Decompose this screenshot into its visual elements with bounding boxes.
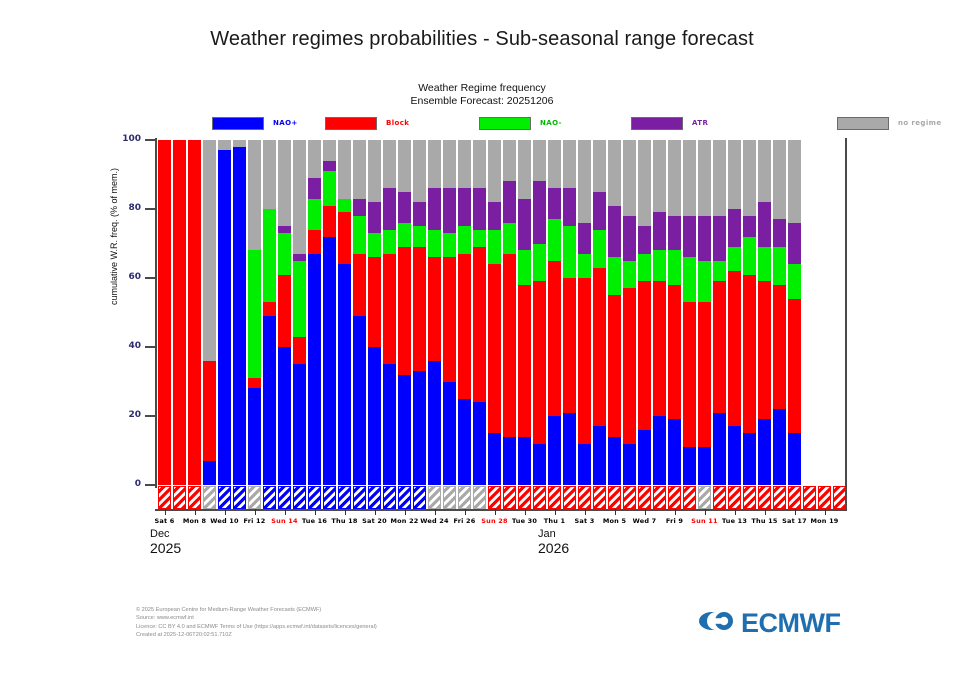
month-block-dec: Dec 2025: [150, 528, 181, 556]
bar-segment-atr: [443, 188, 456, 233]
bar-segment-block: [383, 254, 396, 364]
plot-wrapper: 020406080100 cumulative W.R. freq. (% of…: [0, 0, 964, 678]
bar-segment-nao: [458, 226, 471, 254]
dominant-regime-cell: [533, 486, 546, 509]
bar-segment-noregime: [368, 140, 381, 202]
bar-segment-nao: [308, 254, 321, 485]
bar-segment-block: [278, 275, 291, 347]
bar-segment-atr: [608, 206, 621, 258]
x-axis-tick-label: Fri 26: [454, 517, 476, 525]
bar-segment-nao: [548, 219, 561, 260]
bar-stack: [833, 140, 846, 485]
x-axis-tick-label: Sat 20: [362, 517, 387, 525]
bar-segment-nao: [608, 257, 621, 295]
bar-stack: [698, 140, 711, 485]
dominant-regime-cell: [668, 486, 681, 509]
bar-segment-noregime: [413, 140, 426, 202]
bar-segment-nao: [788, 433, 801, 485]
bar-segment-block: [713, 281, 726, 412]
bar-segment-nao: [683, 257, 696, 302]
bar-segment-nao: [758, 419, 771, 485]
bar-segment-block: [743, 275, 756, 434]
bar-segment-block: [683, 302, 696, 447]
bar-segment-atr: [713, 216, 726, 261]
dominant-regime-cell: [758, 486, 771, 509]
bar-segment-nao: [323, 171, 336, 206]
bar-segment-atr: [428, 188, 441, 229]
bar-segment-block: [533, 281, 546, 443]
x-axis-tick-mark: [555, 509, 556, 515]
bar-segment-nao: [263, 316, 276, 485]
month-year: 2025: [150, 540, 181, 556]
month-block-jan: Jan 2026: [538, 528, 569, 556]
x-axis-tick-mark: [285, 509, 286, 515]
bar-segment-noregime: [383, 140, 396, 188]
bar-segment-noregime: [668, 140, 681, 216]
bar-segment-atr: [653, 212, 666, 250]
x-axis-tick-label: Tue 16: [302, 517, 327, 525]
bar-segment-atr: [368, 202, 381, 233]
bar-stack: [458, 140, 471, 485]
bar-segment-block: [638, 281, 651, 429]
bar-segment-nao: [248, 388, 261, 485]
ecmwf-logo: ECMWF: [697, 606, 837, 640]
bar-stack: [788, 140, 801, 485]
bar-segment-nao: [743, 237, 756, 275]
bar-segment-nao: [428, 230, 441, 258]
bar-segment-nao: [773, 409, 786, 485]
bar-segment-nao: [503, 437, 516, 485]
bar-segment-block: [338, 212, 351, 264]
x-axis-tick-label: Mon 8: [183, 517, 206, 525]
bar-segment-block: [503, 254, 516, 437]
bar-stack: [263, 140, 276, 485]
bar-stack: [338, 140, 351, 485]
bar-segment-block: [788, 299, 801, 434]
bar-segment-nao: [488, 433, 501, 485]
bar-segment-nao: [758, 247, 771, 282]
bar-stack: [233, 140, 246, 485]
bar-stack: [773, 140, 786, 485]
bar-segment-atr: [398, 192, 411, 223]
dominant-regime-cell: [278, 486, 291, 509]
bar-segment-nao: [368, 347, 381, 485]
bar-stack: [248, 140, 261, 485]
bar-segment-noregime: [203, 140, 216, 361]
chart-page: Weather regimes probabilities - Sub-seas…: [0, 0, 964, 678]
bar-segment-nao: [578, 254, 591, 278]
bar-segment-nao: [383, 364, 396, 485]
bar-stack: [548, 140, 561, 485]
x-axis-tick-mark: [225, 509, 226, 515]
x-axis-tick-mark: [705, 509, 706, 515]
bar-segment-noregime: [443, 140, 456, 188]
bar-segment-atr: [413, 202, 426, 226]
bar-segment-block: [563, 278, 576, 413]
bar-segment-block: [173, 140, 186, 485]
bar-segment-noregime: [398, 140, 411, 192]
dominant-regime-cell: [293, 486, 306, 509]
dominant-regime-cell: [488, 486, 501, 509]
bar-segment-block: [203, 361, 216, 461]
x-axis-tick-mark: [315, 509, 316, 515]
bar-segment-noregime: [503, 140, 516, 181]
bar-segment-noregime: [338, 140, 351, 199]
bar-segment-atr: [323, 161, 336, 171]
bar-segment-atr: [503, 181, 516, 222]
bar-segment-nao: [308, 199, 321, 230]
bar-stack: [158, 140, 171, 485]
x-axis-tick-label: Thu 15: [751, 517, 777, 525]
bar-segment-noregime: [728, 140, 741, 209]
bar-segment-block: [443, 257, 456, 381]
x-axis-tick-mark: [405, 509, 406, 515]
bar-segment-noregime: [698, 140, 711, 216]
bar-segment-noregime: [608, 140, 621, 206]
bar-stack: [743, 140, 756, 485]
bar-segment-atr: [773, 219, 786, 247]
dominant-regime-cell: [698, 486, 711, 509]
bar-segment-noregime: [548, 140, 561, 188]
bar-segment-block: [608, 295, 621, 436]
bar-segment-noregime: [428, 140, 441, 188]
bar-segment-nao: [668, 250, 681, 285]
bar-segment-atr: [578, 223, 591, 254]
dominant-regime-cell: [773, 486, 786, 509]
dominant-regime-cell: [578, 486, 591, 509]
bar-segment-atr: [533, 181, 546, 243]
dominant-regime-cell: [548, 486, 561, 509]
bar-stack: [173, 140, 186, 485]
bar-segment-block: [458, 254, 471, 399]
bar-stack: [683, 140, 696, 485]
bar-segment-block: [263, 302, 276, 316]
bar-segment-atr: [563, 188, 576, 226]
bar-segment-nao: [503, 223, 516, 254]
bar-stack: [428, 140, 441, 485]
bar-segment-noregime: [248, 140, 261, 250]
y-axis-tick-label: 100: [107, 134, 141, 144]
bar-stack: [353, 140, 366, 485]
bar-segment-nao: [338, 199, 351, 213]
x-axis-tick-label: Thu 18: [331, 517, 357, 525]
x-axis-tick-mark: [345, 509, 346, 515]
bar-segment-atr: [698, 216, 711, 261]
bar-segment-nao: [578, 444, 591, 485]
bar-segment-nao: [293, 364, 306, 485]
x-axis-tick-label: Wed 24: [420, 517, 449, 525]
bar-segment-nao: [473, 230, 486, 247]
bar-segment-noregime: [263, 140, 276, 209]
bar-segment-nao: [593, 230, 606, 268]
dominant-regime-strip: [157, 486, 847, 509]
bar-stack: [638, 140, 651, 485]
footer-copyright: © 2025 European Centre for Medium-Range …: [136, 606, 377, 614]
bar-stack: [608, 140, 621, 485]
bar-stack: [383, 140, 396, 485]
bar-segment-noregime: [593, 140, 606, 192]
bar-segment-noregime: [683, 140, 696, 216]
bar-stack: [443, 140, 456, 485]
y-axis-tick-mark: [145, 277, 157, 279]
bar-stack: [368, 140, 381, 485]
dominant-regime-cell: [743, 486, 756, 509]
bar-segment-atr: [728, 209, 741, 247]
y-axis-tick-label: 40: [107, 341, 141, 351]
x-axis-tick-label: Mon 19: [810, 517, 838, 525]
footer-licence: Licence: CC BY 4.0 and ECMWF Terms of Us…: [136, 623, 377, 631]
dominant-regime-cell: [593, 486, 606, 509]
bar-segment-noregime: [233, 140, 246, 147]
x-axis-tick-mark: [435, 509, 436, 515]
bar-stack: [188, 140, 201, 485]
dominant-regime-cell: [458, 486, 471, 509]
bar-stack: [563, 140, 576, 485]
dominant-regime-cell: [383, 486, 396, 509]
bar-segment-nao: [683, 447, 696, 485]
x-axis-tick-label: Tue 30: [512, 517, 537, 525]
bar-segment-nao: [518, 250, 531, 285]
bar-stack: [323, 140, 336, 485]
x-axis-tick-label: Fri 12: [244, 517, 266, 525]
bar-segment-noregime: [278, 140, 291, 226]
bar-segment-nao: [293, 261, 306, 337]
bar-segment-atr: [743, 216, 756, 237]
bar-segment-atr: [518, 199, 531, 251]
bar-segment-block: [188, 140, 201, 485]
bar-segment-block: [368, 257, 381, 347]
bar-segment-nao: [353, 316, 366, 485]
x-axis-tick-mark: [525, 509, 526, 515]
x-axis-tick-label: Sun 28: [481, 517, 507, 525]
bar-segment-block: [488, 264, 501, 433]
bar-segment-block: [593, 268, 606, 427]
bar-segment-atr: [638, 226, 651, 254]
bar-stack: [518, 140, 531, 485]
y-axis-tick-mark: [145, 484, 157, 486]
x-axis-tick-mark: [585, 509, 586, 515]
y-axis-title: cumulative W.R. freq. (% of mem.): [109, 168, 119, 305]
x-axis-tick-mark: [795, 509, 796, 515]
bar-segment-nao: [593, 426, 606, 485]
bar-stack: [818, 140, 831, 485]
bar-segment-nao: [278, 233, 291, 274]
bar-segment-block: [308, 230, 321, 254]
bar-segment-noregime: [788, 140, 801, 223]
dominant-regime-cell: [728, 486, 741, 509]
y-axis-tick-label: 0: [107, 479, 141, 489]
bar-segment-atr: [683, 216, 696, 257]
x-axis-tick-mark: [735, 509, 736, 515]
x-axis-tick-mark: [165, 509, 166, 515]
bar-segment-atr: [668, 216, 681, 251]
bar-stack: [668, 140, 681, 485]
dominant-regime-cell: [653, 486, 666, 509]
x-axis-tick-label: Mon 22: [390, 517, 418, 525]
bar-segment-nao: [443, 233, 456, 257]
bar-stack: [623, 140, 636, 485]
x-axis-tick-label: Wed 7: [633, 517, 657, 525]
dominant-regime-cell: [203, 486, 216, 509]
bar-segment-nao: [278, 347, 291, 485]
x-axis-tick-mark: [645, 509, 646, 515]
dominant-regime-cell: [353, 486, 366, 509]
x-axis-tick-label: Sat 3: [575, 517, 595, 525]
y-axis-tick-mark: [145, 139, 157, 141]
dominant-regime-cell: [713, 486, 726, 509]
bar-segment-nao: [653, 250, 666, 281]
bar-segment-nao: [398, 375, 411, 485]
bar-segment-nao: [698, 261, 711, 302]
bar-segment-nao: [248, 250, 261, 378]
footer-created: Created at 2025-12-06T20:02:51.710Z: [136, 631, 377, 639]
bar-segment-block: [578, 278, 591, 444]
bar-segment-atr: [473, 188, 486, 229]
bar-stack: [533, 140, 546, 485]
dominant-regime-cell: [323, 486, 336, 509]
bar-segment-block: [653, 281, 666, 416]
bar-segment-block: [473, 247, 486, 402]
bar-stack: [713, 140, 726, 485]
bar-segment-nao: [413, 371, 426, 485]
dominant-regime-cell: [788, 486, 801, 509]
bar-segment-atr: [353, 199, 366, 216]
bar-segment-nao: [728, 247, 741, 271]
bar-segment-atr: [308, 178, 321, 199]
x-axis-tick-mark: [465, 509, 466, 515]
bar-stack: [653, 140, 666, 485]
bar-segment-noregime: [758, 140, 771, 202]
bar-segment-block: [428, 257, 441, 361]
bar-segment-noregime: [563, 140, 576, 188]
bar-segment-nao: [653, 416, 666, 485]
x-axis-tick-label: Tue 13: [722, 517, 747, 525]
bar-segment-block: [548, 261, 561, 416]
bar-segment-atr: [758, 202, 771, 247]
bar-segment-nao: [323, 237, 336, 485]
bar-segment-noregime: [473, 140, 486, 188]
x-axis-tick-mark: [615, 509, 616, 515]
x-axis-tick-mark: [495, 509, 496, 515]
bar-segment-nao: [398, 223, 411, 247]
bar-segment-atr: [593, 192, 606, 230]
footer-text: © 2025 European Centre for Medium-Range …: [136, 606, 377, 639]
x-axis-ticks: Sat 6Mon 8Wed 10Fri 12Sun 14Tue 16Thu 18…: [157, 509, 847, 549]
x-axis-tick-label: Sat 6: [155, 517, 175, 525]
x-axis-tick-label: Fri 9: [666, 517, 683, 525]
dominant-regime-cell: [263, 486, 276, 509]
bar-segment-nao: [668, 419, 681, 485]
bar-segment-nao: [563, 226, 576, 278]
bar-segment-nao: [263, 209, 276, 302]
bar-segment-noregime: [653, 140, 666, 212]
bar-segment-noregime: [773, 140, 786, 219]
bar-segment-noregime: [713, 140, 726, 216]
dominant-regime-cell: [503, 486, 516, 509]
dominant-regime-cell: [413, 486, 426, 509]
bar-segment-block: [413, 247, 426, 371]
bar-segment-block: [158, 140, 171, 485]
bar-segment-nao: [728, 426, 741, 485]
bar-segment-nao: [428, 361, 441, 485]
bar-segment-nao: [443, 382, 456, 486]
x-axis-tick-mark: [675, 509, 676, 515]
bar-segment-noregime: [323, 140, 336, 161]
x-axis-tick-mark: [375, 509, 376, 515]
bar-segment-nao: [353, 216, 366, 254]
bar-segment-block: [398, 247, 411, 375]
ecmwf-logo-text: ECMWF: [741, 608, 840, 639]
bar-stack: [413, 140, 426, 485]
bar-stack: [473, 140, 486, 485]
x-axis-tick-label: Thu 1: [544, 517, 565, 525]
bar-stack: [308, 140, 321, 485]
bar-segment-nao: [638, 430, 651, 485]
bar-segment-nao: [548, 416, 561, 485]
bar-stack: [293, 140, 306, 485]
bar-segment-block: [728, 271, 741, 426]
bar-segment-atr: [788, 223, 801, 264]
bar-segment-noregime: [353, 140, 366, 199]
bar-segment-atr: [548, 188, 561, 219]
bar-segment-block: [323, 206, 336, 237]
bar-segment-nao: [713, 261, 726, 282]
dominant-regime-cell: [173, 486, 186, 509]
x-axis-tick-label: Sun 11: [691, 517, 717, 525]
plot-area: cumulative W.R. freq. (% of mem.): [157, 140, 847, 485]
bar-segment-nao: [623, 444, 636, 485]
dominant-regime-cell: [608, 486, 621, 509]
dominant-regime-cell: [833, 486, 846, 509]
x-axis-tick-label: Sun 14: [271, 517, 297, 525]
dominant-regime-cell: [443, 486, 456, 509]
bar-segment-nao: [473, 402, 486, 485]
y-axis-tick-mark: [145, 415, 157, 417]
bar-segment-atr: [458, 188, 471, 226]
x-axis-tick-mark: [825, 509, 826, 515]
bar-segment-noregime: [458, 140, 471, 188]
bar-segment-nao: [488, 230, 501, 265]
bar-segment-noregime: [488, 140, 501, 202]
bar-segment-nao: [458, 399, 471, 485]
dominant-regime-cell: [518, 486, 531, 509]
dominant-regime-cell: [248, 486, 261, 509]
bar-segment-noregime: [578, 140, 591, 223]
bar-segment-nao: [608, 437, 621, 485]
bar-segment-nao: [533, 244, 546, 282]
bar-segment-nao: [743, 433, 756, 485]
dominant-regime-cell: [563, 486, 576, 509]
month-name: Jan: [538, 528, 569, 540]
bar-segment-atr: [293, 254, 306, 261]
bar-stack: [578, 140, 591, 485]
bar-segment-noregime: [623, 140, 636, 216]
bar-stack: [803, 140, 816, 485]
bar-segment-nao: [233, 147, 246, 485]
bar-segment-nao: [203, 461, 216, 485]
month-name: Dec: [150, 528, 181, 540]
bar-stack: [728, 140, 741, 485]
x-axis-tick-label: Wed 10: [210, 517, 239, 525]
bar-stack: [218, 140, 231, 485]
bar-segment-block: [353, 254, 366, 316]
y-axis-tick-mark: [145, 208, 157, 210]
y-axis-tick-label: 20: [107, 410, 141, 420]
bar-stack: [398, 140, 411, 485]
dominant-regime-cell: [473, 486, 486, 509]
bar-segment-nao: [413, 226, 426, 247]
bar-segment-nao: [368, 233, 381, 257]
